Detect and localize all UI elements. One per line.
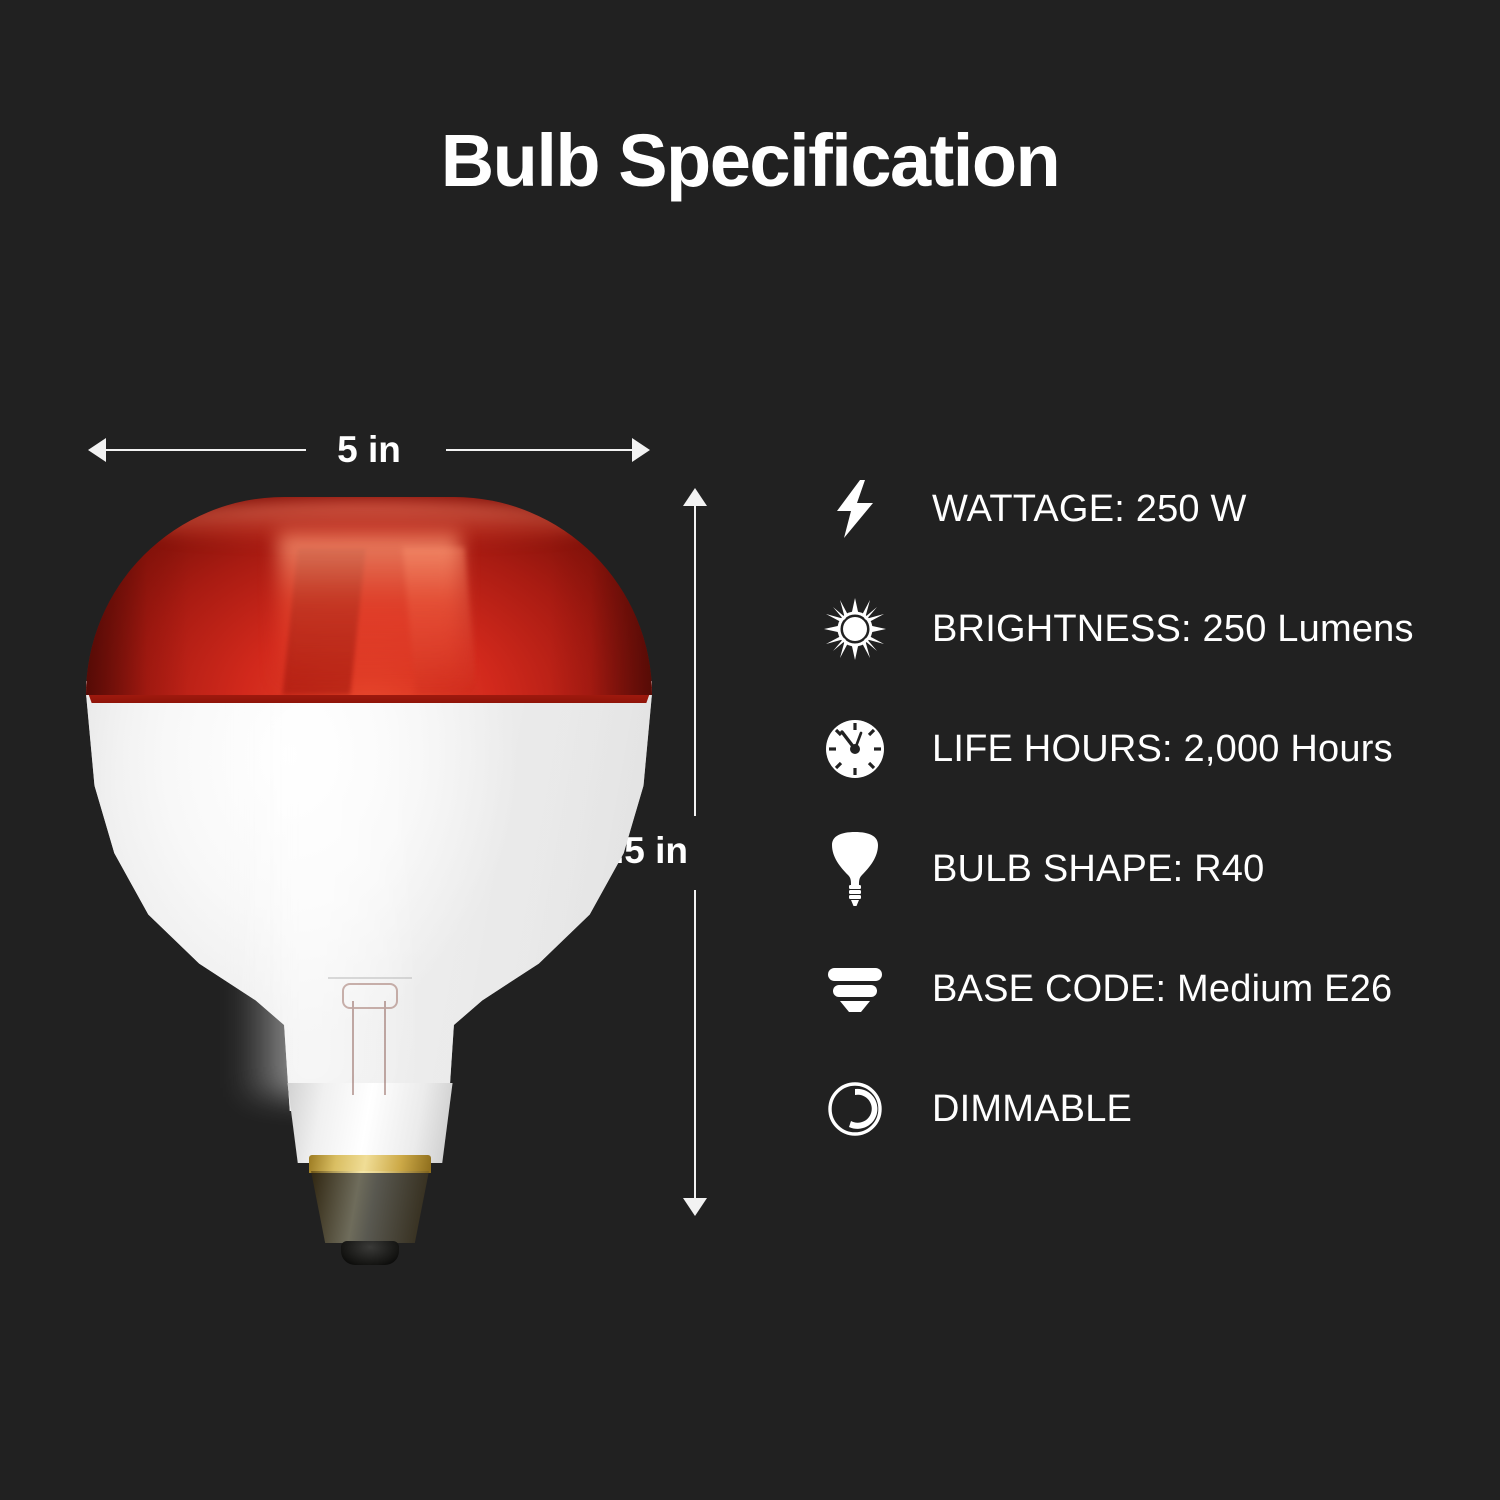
spec-label-wattage: WATTAGE: 250 W [892, 488, 1247, 531]
base-threads-shading [311, 1171, 429, 1243]
bulb-screw-base [307, 1155, 433, 1267]
spec-label-brightness: BRIGHTNESS: 250 Lumens [892, 608, 1414, 651]
spec-label-base-code: BASE CODE: Medium E26 [892, 968, 1392, 1011]
spec-row-dimmable: DIMMABLE [818, 1070, 1478, 1148]
height-dimension-callout: 6.5 in [630, 488, 790, 1216]
filament-support-wire [328, 977, 412, 979]
socket-base-icon [818, 952, 892, 1026]
base-contact-tip [341, 1241, 399, 1265]
filament-lead-left [352, 1001, 354, 1095]
sun-icon [818, 592, 892, 666]
bulb-filament [322, 967, 418, 1095]
dome-center-reflection [278, 533, 459, 683]
dome-top-gloss [131, 501, 606, 547]
filament-lead-right [384, 1001, 386, 1095]
bulb-red-reflector-dome [86, 497, 652, 695]
spec-row-brightness: BRIGHTNESS: 250 Lumens [818, 590, 1478, 668]
clock-icon [818, 712, 892, 786]
width-dimension-label: 5 in [88, 424, 650, 476]
spec-row-bulb-shape: BULB SHAPE: R40 [818, 830, 1478, 908]
filament-coil [342, 983, 398, 1009]
spec-label-bulb-shape: BULB SHAPE: R40 [892, 848, 1264, 891]
bulb-icon [818, 832, 892, 906]
spec-row-wattage: WATTAGE: 250 W [818, 470, 1478, 548]
height-dimension-line-top [694, 504, 696, 816]
page-title: Bulb Specification [0, 118, 1500, 203]
bulb-neck [284, 1083, 456, 1163]
spec-label-life-hours: LIFE HOURS: 2,000 Hours [892, 728, 1393, 771]
width-dimension-callout: 5 in [88, 424, 650, 480]
lightning-bolt-icon [818, 472, 892, 546]
spec-label-dimmable: DIMMABLE [892, 1088, 1132, 1131]
specification-list: WATTAGE: 250 W [818, 470, 1478, 1190]
spec-row-life-hours: LIFE HOURS: 2,000 Hours [818, 710, 1478, 788]
spec-row-base-code: BASE CODE: Medium E26 [818, 950, 1478, 1028]
bulb-product-image [86, 497, 652, 1209]
arrow-down-icon [683, 1198, 707, 1216]
base-collar [309, 1155, 431, 1173]
dimmer-knob-icon [818, 1072, 892, 1146]
height-dimension-line-bottom [694, 890, 696, 1200]
